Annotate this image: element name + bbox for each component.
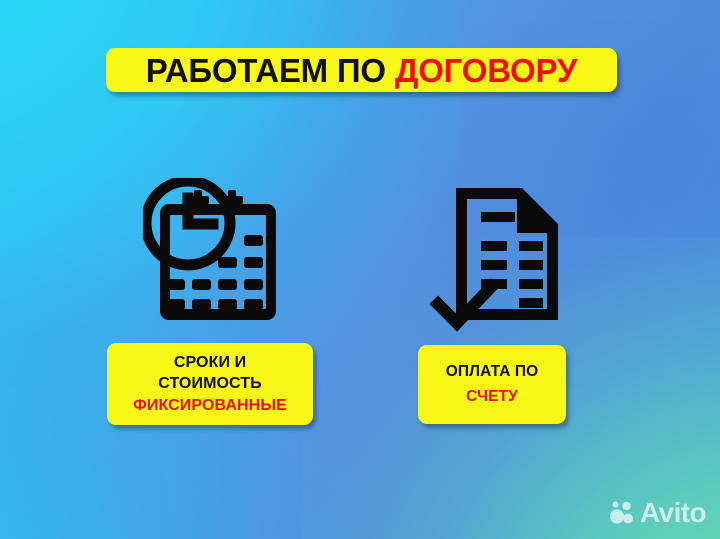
label-line: СРОКИ И — [174, 352, 246, 373]
poster-canvas: РАБОТАЕМ ПО ДОГОВОРУ — [0, 0, 720, 539]
title-banner: РАБОТАЕМ ПО ДОГОВОРУ — [106, 48, 617, 92]
label-line: СЧЕТУ — [466, 385, 518, 409]
title-text-black: РАБОТАЕМ ПО — [146, 54, 386, 87]
label-box-payment: ОПЛАТА ПО СЧЕТУ — [418, 345, 566, 424]
label-line: ФИКСИРОВАННЫЕ — [133, 395, 287, 416]
label-line: ОПЛАТА ПО — [446, 360, 539, 384]
avito-brand-text: Avito — [640, 499, 706, 527]
label-box-deadlines: СРОКИ И СТОИМОСТЬ ФИКСИРОВАННЫЕ — [107, 343, 313, 425]
avito-watermark: Avito — [609, 499, 706, 527]
document-check-icon — [428, 176, 580, 332]
calendar-clock-icon — [143, 178, 293, 330]
avito-dots-logo — [609, 500, 635, 526]
title-text-red: ДОГОВОРУ — [395, 54, 577, 87]
label-line: СТОИМОСТЬ — [158, 373, 262, 394]
